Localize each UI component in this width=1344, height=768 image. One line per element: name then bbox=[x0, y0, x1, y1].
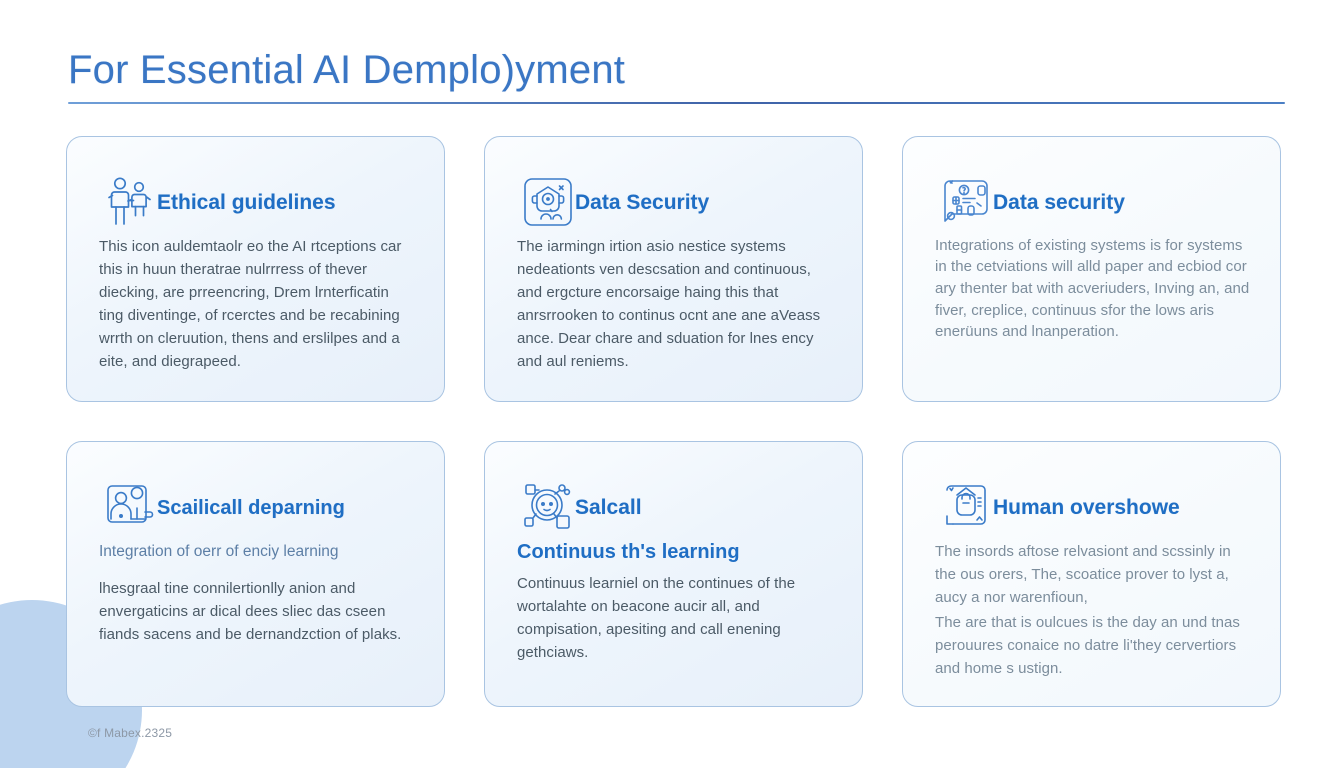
card-body-paragraph: Integrations of existing systems is for … bbox=[935, 235, 1250, 343]
card-header: Human overshowe bbox=[933, 468, 1250, 530]
card-body-paragraph: Continuus learniel on the continues of t… bbox=[517, 572, 832, 664]
card-body: The insords aftose relvasiont and scssin… bbox=[933, 540, 1250, 681]
feature-card-scalable-learning[interactable]: Scailicall deparning Integration of oerr… bbox=[66, 441, 445, 707]
feature-card-ethical-guidelines[interactable]: Ethical guidelines This icon auldemtaolr… bbox=[66, 136, 445, 402]
network-face-icon bbox=[519, 478, 577, 536]
title-divider bbox=[68, 102, 1285, 104]
header: For Essential AI Demplo)yment bbox=[66, 48, 1286, 104]
card-title: Salcall bbox=[575, 497, 642, 530]
card-title: Human overshowe bbox=[993, 497, 1180, 530]
feature-card-grid: Ethical guidelines This icon auldemtaolr… bbox=[66, 136, 1286, 707]
presenter-icon bbox=[101, 478, 159, 536]
card-header: Data Security bbox=[515, 163, 832, 225]
card-body-paragraph: The insords aftose relvasiont and scssin… bbox=[935, 540, 1250, 609]
card-body: lhesgraal tine connilertionlly anion and… bbox=[97, 577, 414, 646]
card-title: Ethical guidelines bbox=[157, 192, 336, 225]
dashboard-icon bbox=[937, 173, 995, 231]
card-header: Ethical guidelines bbox=[97, 163, 414, 225]
feature-card-data-security-robot[interactable]: Data Security The iarmingn irtion asio n… bbox=[484, 136, 863, 402]
card-body: Integrations of existing systems is for … bbox=[933, 235, 1250, 343]
slide-page: For Essential AI Demplo)yment bbox=[0, 0, 1344, 768]
page-title: For Essential AI Demplo)yment bbox=[66, 48, 1286, 93]
robot-icon bbox=[519, 173, 577, 231]
card-body-paragraph: The are that is oulcues is the day an un… bbox=[935, 611, 1250, 680]
safe-lock-icon bbox=[937, 478, 995, 536]
card-body-paragraph: The iarmingn irtion asio nestice systems… bbox=[517, 235, 832, 374]
feature-card-continuous-learning[interactable]: Salcall Continuus th's learning Continuu… bbox=[484, 441, 863, 707]
card-title: Scailicall deparning bbox=[157, 498, 345, 530]
footer-copyright: ©f Mabex.2325 bbox=[88, 726, 172, 740]
card-lead: Integration of oerr of enciy learning bbox=[97, 540, 414, 563]
feature-card-human-oversight[interactable]: Human overshowe The insords aftose relva… bbox=[902, 441, 1281, 707]
card-header: Scailicall deparning bbox=[97, 468, 414, 530]
feature-card-data-security-dashboard[interactable]: Data security Integrations of existing s… bbox=[902, 136, 1281, 402]
card-body: The iarmingn irtion asio nestice systems… bbox=[515, 235, 832, 374]
card-header: Data security bbox=[933, 163, 1250, 225]
card-header: Salcall bbox=[515, 468, 832, 530]
card-body-paragraph: This icon auldemtaolr eo the AI rtceptio… bbox=[99, 235, 414, 374]
card-subtitle: Continuus th's learning bbox=[515, 540, 832, 564]
card-title: Data Security bbox=[575, 192, 709, 225]
card-title: Data security bbox=[993, 192, 1125, 225]
card-body-paragraph: lhesgraal tine connilertionlly anion and… bbox=[99, 577, 414, 646]
two-people-icon bbox=[101, 173, 159, 231]
card-body: Continuus learniel on the continues of t… bbox=[515, 572, 832, 664]
card-body: This icon auldemtaolr eo the AI rtceptio… bbox=[97, 235, 414, 374]
